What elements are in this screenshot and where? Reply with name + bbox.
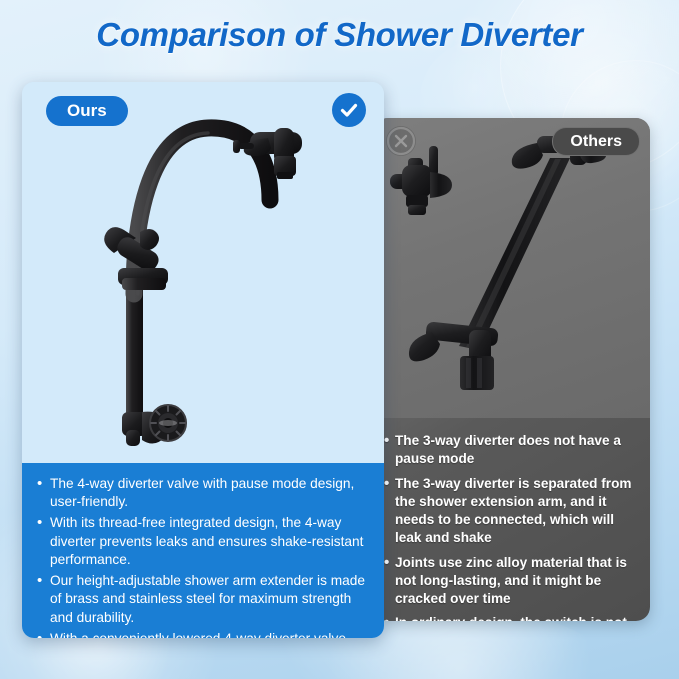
others-bullet-text: Joints use zinc alloy material that is n…	[395, 555, 627, 606]
list-item: The 4-way diverter valve with pause mode…	[34, 475, 368, 511]
ours-bullet-text: With a conveniently lowered 4-way divert…	[50, 631, 350, 638]
page-title: Comparison of Shower Diverter	[0, 16, 679, 54]
ours-comparison-card: Ours The 4-way diverter valve with pause…	[22, 82, 384, 638]
others-feature-list: The 3-way diverter does not have a pause…	[374, 424, 650, 621]
list-item: In ordinary design, the switch is not ea…	[384, 614, 636, 621]
infographic-canvas: Comparison of Shower Diverter	[0, 0, 679, 679]
list-item: The 3-way diverter does not have a pause…	[384, 432, 636, 468]
ours-badge-label: Ours	[67, 101, 107, 121]
list-item: With a conveniently lowered 4-way divert…	[34, 630, 368, 638]
x-circle-icon	[386, 126, 416, 156]
ours-bullet-text: With its thread-free integrated design, …	[50, 515, 363, 566]
list-item: With its thread-free integrated design, …	[34, 514, 368, 569]
shower-extension-arm	[409, 135, 606, 390]
others-badge-label: Others	[570, 133, 622, 151]
others-badge: Others	[552, 127, 640, 156]
ours-bullet-text: Our height-adjustable shower arm extende…	[50, 573, 365, 624]
ours-product-photo	[22, 82, 384, 463]
others-card-header: Others	[374, 118, 650, 170]
others-bullet-text: The 3-way diverter is separated from the…	[395, 476, 631, 545]
ours-feature-list: The 4-way diverter valve with pause mode…	[22, 463, 384, 638]
list-item: Our height-adjustable shower arm extende…	[34, 572, 368, 627]
list-item: The 3-way diverter is separated from the…	[384, 475, 636, 547]
ours-bullet-text: The 4-way diverter valve with pause mode…	[50, 476, 354, 509]
check-circle-icon	[332, 93, 366, 127]
others-comparison-card: Others The 3-way diverter does not have …	[374, 118, 650, 621]
others-bullet-text: The 3-way diverter does not have a pause…	[395, 433, 621, 466]
list-item: Joints use zinc alloy material that is n…	[384, 554, 636, 608]
ours-product-illustration	[22, 82, 384, 463]
ours-badge: Ours	[46, 96, 128, 126]
others-bullet-text: In ordinary design, the switch is not ea…	[395, 615, 627, 621]
